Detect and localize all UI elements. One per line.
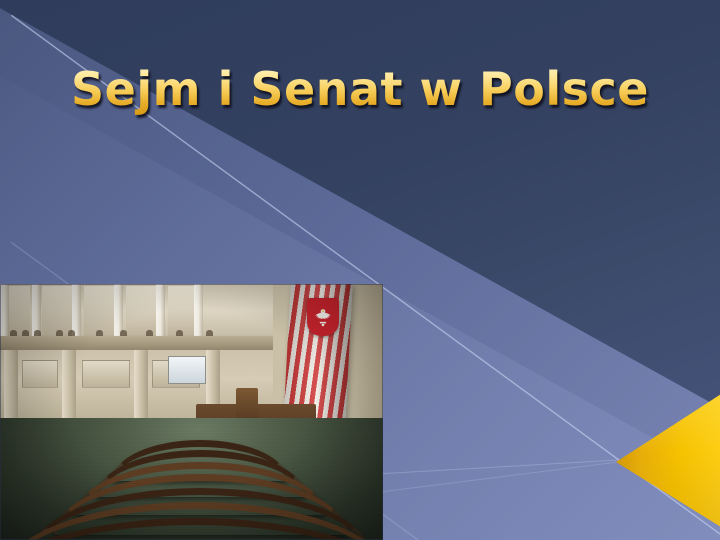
presentation-slide: Sejm i Senat w Polsce [0, 0, 720, 540]
photo-border [0, 284, 383, 540]
sejm-chamber-photo [0, 284, 383, 540]
page-title: Sejm i Senat w Polsce [0, 64, 720, 115]
